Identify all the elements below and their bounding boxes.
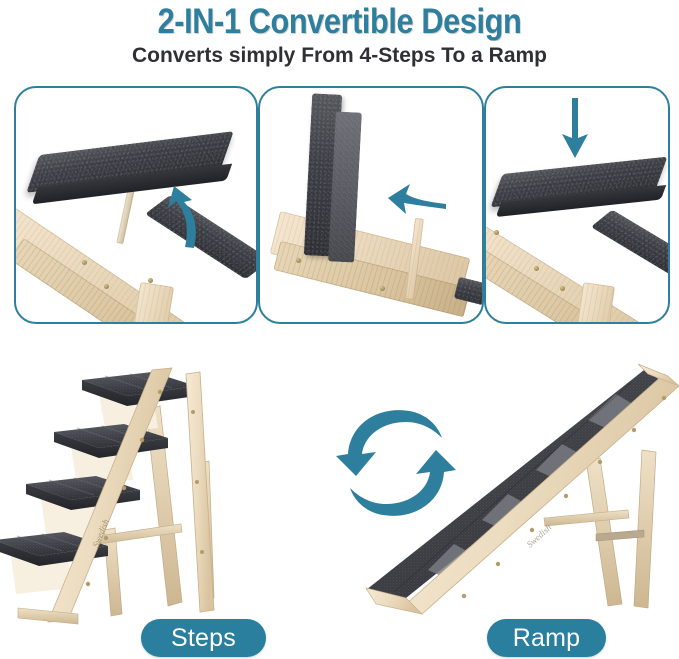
screw-icon (104, 284, 109, 289)
brand-stamp: Swedish (525, 522, 554, 550)
screw-icon (148, 278, 153, 283)
screw-icon (534, 266, 539, 271)
arrow-left-icon (386, 180, 448, 220)
ramp-configuration: Swedish (348, 352, 679, 632)
infographic-canvas: 2-IN-1 Convertible Design Converts simpl… (0, 0, 679, 659)
screw-icon (494, 230, 499, 235)
screw-icon (296, 258, 301, 263)
steps-configuration: Swedish (0, 352, 330, 632)
fold-upright-panel (258, 86, 484, 324)
lower-ramp-panel (484, 86, 670, 324)
arrow-up-curved-icon (156, 184, 212, 250)
screw-icon (82, 260, 87, 265)
label-steps: Steps (141, 619, 266, 657)
lower-tread-carpet (591, 210, 670, 281)
screw-icon (560, 286, 565, 291)
screw-icon (589, 321, 595, 324)
page-title: 2-IN-1 Convertible Design (41, 2, 639, 42)
screw-icon (380, 286, 385, 291)
hinge-bracket (116, 188, 134, 244)
label-ramp: Ramp (487, 619, 606, 657)
svg-text:Swedish: Swedish (525, 522, 554, 550)
screw-icon (146, 323, 152, 324)
lift-step-panel (14, 86, 258, 324)
page-subtitle: Converts simply From 4-Steps To a Ramp (0, 44, 679, 68)
arrow-down-icon (558, 98, 592, 160)
ramp-deck-carpet (366, 370, 670, 602)
